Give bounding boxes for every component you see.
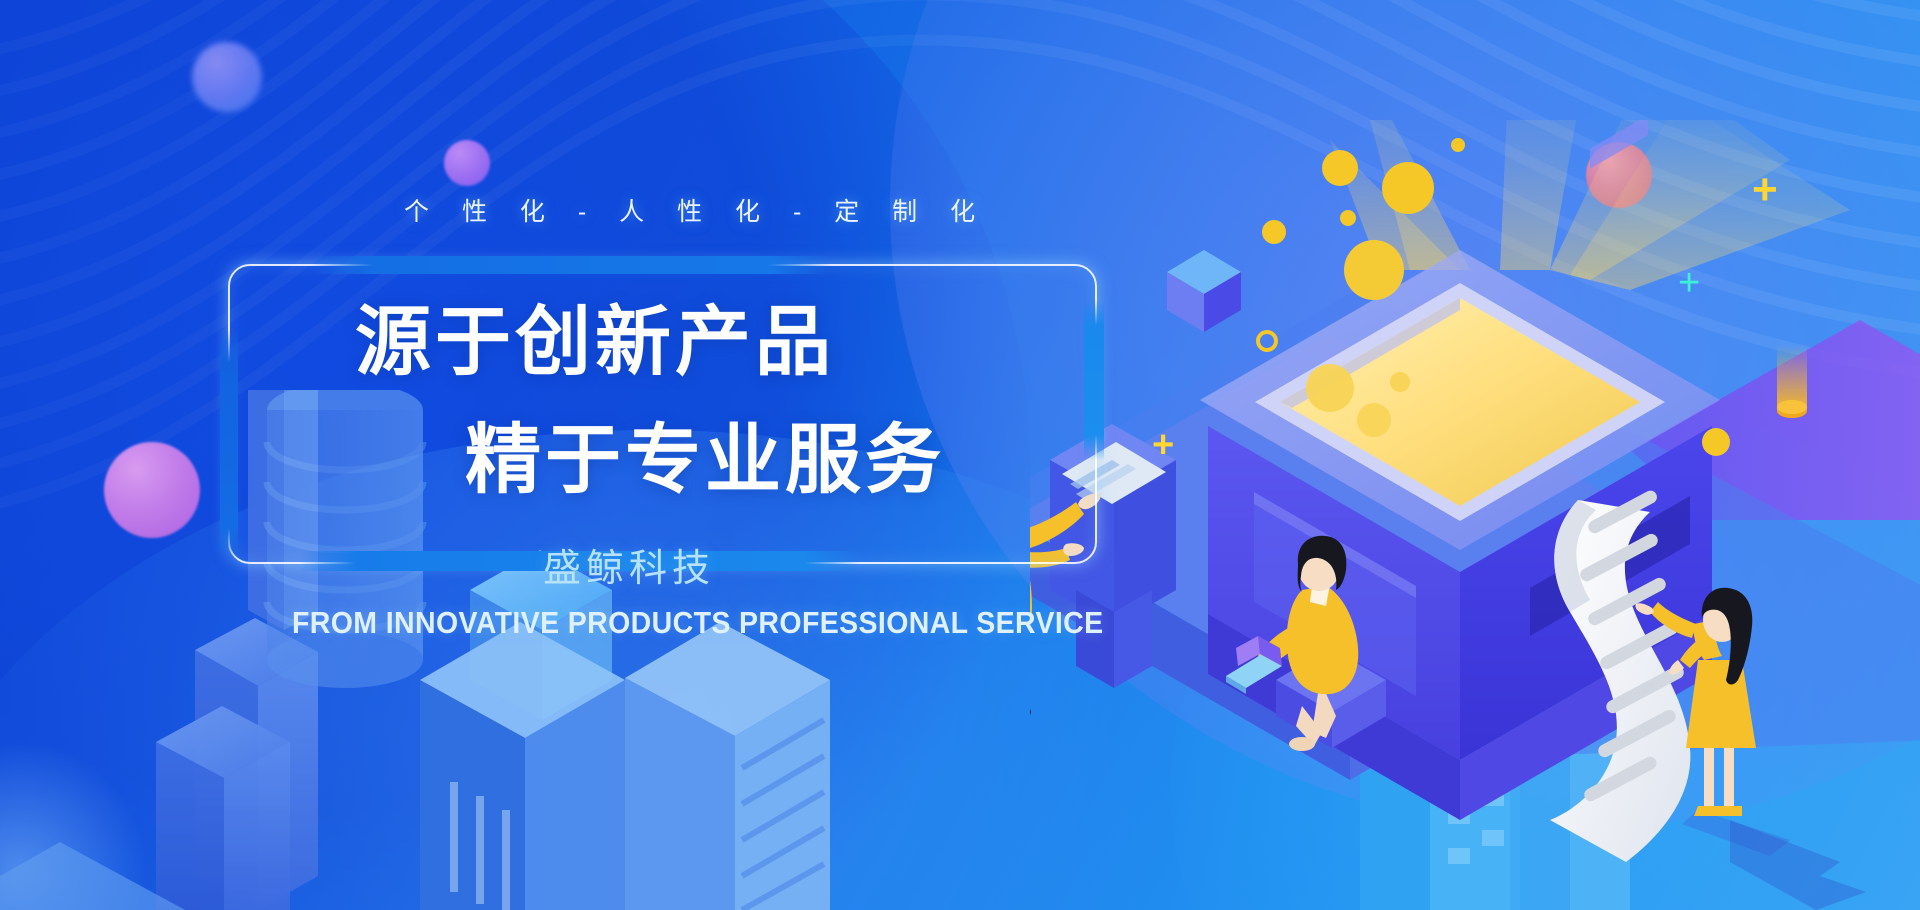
- tagline: 个 性 化 - 人 性 化 - 定 制 化: [404, 192, 988, 228]
- hero-content: 个 性 化 - 人 性 化 - 定 制 化 源于创新产品 精于专业服务 盛鲸科技…: [0, 0, 1160, 910]
- company-name: 盛鲸科技: [543, 537, 715, 592]
- headline-line-1: 源于创新产品: [355, 300, 835, 385]
- isometric-printer-scene: [1030, 120, 1920, 910]
- cyan-plus-icon: +: [1678, 264, 1700, 302]
- yellow-plus-icon-right: +: [1752, 168, 1778, 212]
- frame-gap-top: [311, 256, 831, 274]
- hero-banner: + + + 个 性 化 - 人 性 化 - 定 制 化: [0, 0, 1920, 910]
- isometric-cube: [1163, 248, 1245, 334]
- yellow-ring-icon: [1256, 330, 1278, 352]
- frame-gap-right: [1084, 300, 1104, 460]
- subtitle-english: FROM INNOVATIVE PRODUCTS PROFESSIONAL SE…: [292, 605, 1104, 641]
- frame-gap-left: [220, 330, 238, 560]
- yellow-cylinder: [1775, 345, 1809, 425]
- headline-line-2: 精于专业服务: [465, 418, 945, 503]
